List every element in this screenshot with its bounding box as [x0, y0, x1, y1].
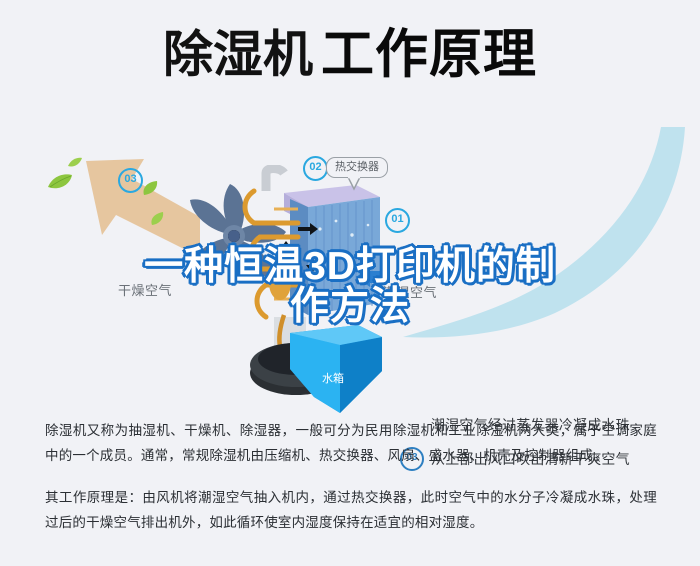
leaf-icon [68, 157, 82, 168]
page-title: 除湿机工作原理 [0, 28, 700, 81]
body-paragraph-2: 其工作原理是：由风机将潮湿空气抽入机内，通过热交换器，此时空气中的水分子冷凝成水… [45, 485, 657, 535]
diagram-label-water-tank: 水箱 [322, 370, 344, 386]
diagram-badge-humid-air: 01 [385, 208, 410, 233]
callout-pointer-icon [347, 177, 361, 191]
diagram-label-dry-air: 干燥空气 [118, 280, 172, 299]
leaf-icon [47, 173, 73, 191]
leaf-icon [150, 212, 164, 226]
page-title-secondary: 工作原理 [321, 25, 537, 84]
water-tank [288, 323, 384, 415]
dehumidifier-diagram: 03 02 01 热交换器 干燥空气 潮湿空气 水箱 [0, 125, 700, 415]
leaf-icon [142, 180, 158, 196]
body-copy: 除湿机又称为抽湿机、干燥机、除湿器，一般可分为民用除湿机和工业除湿机两大类，属于… [45, 418, 657, 535]
diagram-label-humid-air: 潮湿空气 [383, 282, 437, 301]
diagram-badge-heat-exchanger: 02 [303, 156, 328, 181]
callout-heat-exchanger: 热交换器 [326, 157, 388, 178]
poster-page: 除湿机工作原理 [0, 0, 700, 566]
diagram-badge-dry-air: 03 [118, 168, 143, 193]
body-paragraph-1: 除湿机又称为抽湿机、干燥机、除湿器，一般可分为民用除湿机和工业除湿机两大类，属于… [45, 418, 657, 468]
page-title-primary: 除湿机 [163, 27, 313, 83]
